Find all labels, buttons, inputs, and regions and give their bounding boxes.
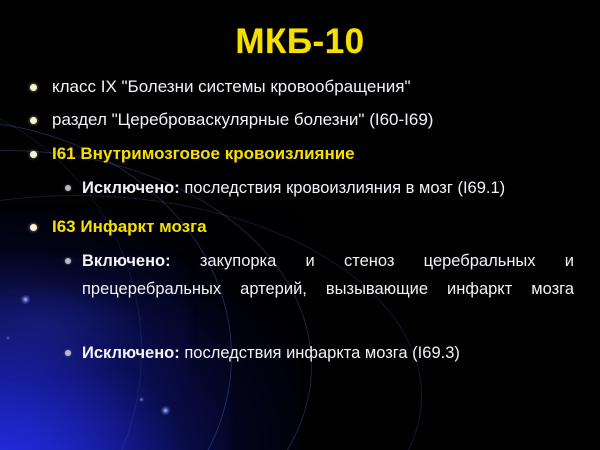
bullet-item-i61-heading: I61 Внутримозговое кровоизлияние [0,141,600,167]
bullet-item-i63-excluded: Исключено: последствия инфаркта мозга (I… [0,339,600,367]
bullet-item-class-ix: класс IX "Болезни системы кровообращения… [0,74,600,100]
excluded-label: Исключено: [82,179,180,197]
bullet-item-i63-heading: I63 Инфаркт мозга [0,214,600,240]
presentation-slide: МКБ-10 класс IX "Болезни системы кровооб… [0,0,600,450]
slide-content: МКБ-10 класс IX "Болезни системы кровооб… [0,0,600,450]
bullet-item-section-cerebrovascular: раздел "Цереброваскулярные болезни" (I60… [0,107,600,133]
bullet-list: класс IX "Болезни системы кровообращения… [0,74,600,372]
excluded-text-2: последствия инфаркта мозга (I69.3) [180,344,460,362]
excluded-label-2: Исключено: [82,344,180,362]
bullet-item-i61-excluded: Исключено: последствия кровоизлияния в м… [0,174,600,202]
bullet-item-i63-included: Включено: закупорка и стеноз церебральны… [0,247,600,331]
included-label: Включено: [82,252,171,270]
excluded-text: последствия кровоизлияния в мозг (I69.1) [180,179,505,197]
slide-title: МКБ-10 [0,22,600,62]
